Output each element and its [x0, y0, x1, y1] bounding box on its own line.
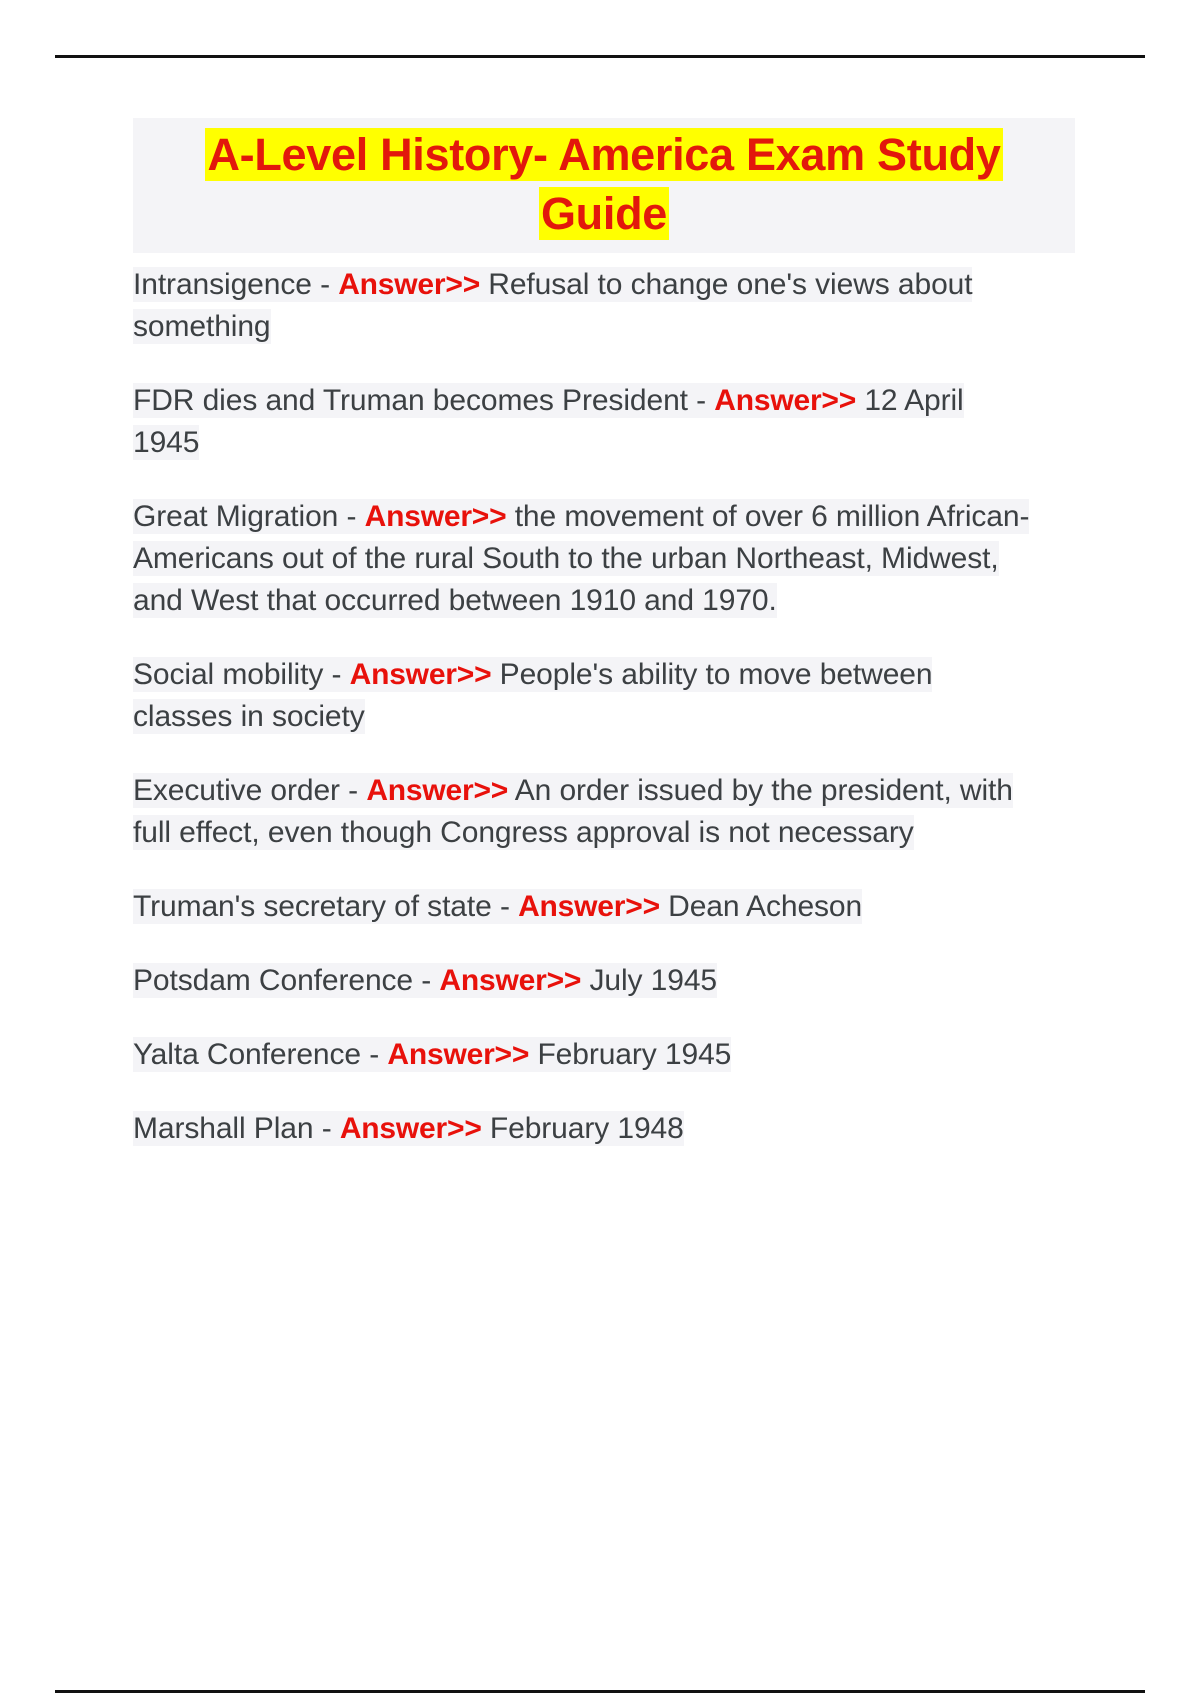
entry-highlight: Social mobility - Answer>> People's abil…: [133, 657, 932, 734]
entry-term: Truman's secretary of state: [133, 890, 492, 923]
answer-marker: Answer>>: [439, 964, 581, 997]
entry-space: [491, 658, 499, 691]
study-guide-page: A-Level History- America Exam Study Guid…: [0, 0, 1200, 1700]
entry-term: Executive order: [133, 774, 340, 807]
answer-marker: Answer>>: [387, 1038, 529, 1071]
entry-definition: Dean Acheson: [668, 890, 862, 923]
glossary-entry-list: Intransigence - Answer>> Refusal to chan…: [133, 264, 1083, 1150]
entry-highlight: Great Migration - Answer>> the movement …: [133, 499, 1029, 618]
entry-term: FDR dies and Truman becomes President: [133, 384, 688, 417]
glossary-entry: Potsdam Conference - Answer>> July 1945: [133, 960, 1038, 1002]
glossary-entry: Truman's secretary of state - Answer>> D…: [133, 886, 1038, 928]
entry-term: Potsdam Conference: [133, 964, 413, 997]
glossary-entry: Social mobility - Answer>> People's abil…: [133, 654, 1038, 738]
entry-term: Intransigence: [133, 268, 312, 301]
entry-separator: -: [361, 1038, 387, 1071]
answer-marker: Answer>>: [338, 268, 480, 301]
page-title: A-Level History- America Exam Study Guid…: [139, 126, 1069, 243]
glossary-entry: Marshall Plan - Answer>> February 1948: [133, 1108, 1038, 1150]
answer-marker: Answer>>: [365, 500, 507, 533]
entry-separator: -: [340, 774, 366, 807]
page-title-text: A-Level History- America Exam Study Guid…: [205, 128, 1002, 240]
entry-separator: -: [313, 1112, 339, 1145]
document-title-block: A-Level History- America Exam Study Guid…: [133, 118, 1075, 253]
document-content: A-Level History- America Exam Study Guid…: [133, 118, 1083, 1150]
entry-separator: -: [413, 964, 439, 997]
entry-term: Yalta Conference: [133, 1038, 361, 1071]
entry-highlight: Potsdam Conference - Answer>> July 1945: [133, 963, 717, 998]
entry-highlight: Marshall Plan - Answer>> February 1948: [133, 1111, 684, 1146]
entry-separator: -: [492, 890, 518, 923]
entry-highlight: Yalta Conference - Answer>> February 194…: [133, 1037, 731, 1072]
entry-space: [482, 1112, 490, 1145]
glossary-entry: Intransigence - Answer>> Refusal to chan…: [133, 264, 1038, 348]
glossary-entry: Yalta Conference - Answer>> February 194…: [133, 1034, 1038, 1076]
answer-marker: Answer>>: [714, 384, 856, 417]
entry-definition: July 1945: [589, 964, 717, 997]
entry-separator: -: [312, 268, 338, 301]
entry-definition: February 1948: [490, 1112, 684, 1145]
answer-marker: Answer>>: [518, 890, 660, 923]
entry-space: [506, 500, 514, 533]
entry-term: Marshall Plan: [133, 1112, 313, 1145]
answer-marker: Answer>>: [350, 658, 492, 691]
entry-separator: -: [338, 500, 364, 533]
entry-highlight: FDR dies and Truman becomes President - …: [133, 383, 964, 460]
entry-separator: -: [323, 658, 349, 691]
entry-highlight: Truman's secretary of state - Answer>> D…: [133, 889, 862, 924]
entry-separator: -: [688, 384, 714, 417]
header-divider-rule: [55, 55, 1145, 58]
glossary-entry: FDR dies and Truman becomes President - …: [133, 380, 1038, 464]
entry-definition: February 1945: [537, 1038, 731, 1071]
glossary-entry: Executive order - Answer>> An order issu…: [133, 770, 1038, 854]
answer-marker: Answer>>: [340, 1112, 482, 1145]
entry-highlight: Executive order - Answer>> An order issu…: [133, 773, 1013, 850]
glossary-entry: Great Migration - Answer>> the movement …: [133, 496, 1038, 622]
entry-highlight: Intransigence - Answer>> Refusal to chan…: [133, 267, 972, 344]
entry-space: [660, 890, 668, 923]
answer-marker: Answer>>: [366, 774, 508, 807]
entry-term: Great Migration: [133, 500, 338, 533]
entry-space: [508, 774, 515, 807]
entry-term: Social mobility: [133, 658, 323, 691]
footer-divider-rule: [55, 1690, 1145, 1693]
